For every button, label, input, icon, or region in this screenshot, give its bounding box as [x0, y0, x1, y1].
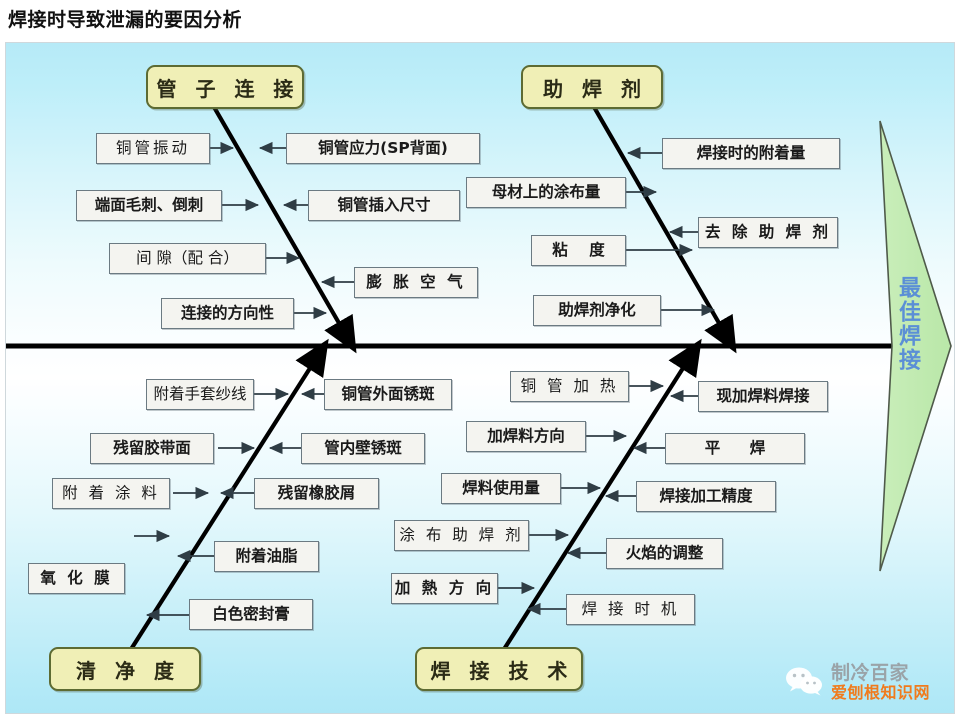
category-cleanliness[interactable]: 清 净 度	[49, 647, 201, 691]
cause-box-flux-removal[interactable]: 去 除 助 焊 剂	[698, 217, 838, 248]
cause-box-coating-on-base-metal[interactable]: 母材上的涂布量	[466, 177, 626, 208]
cause-box-copper-pipe-stress[interactable]: 铜管应力(SP背面)	[286, 133, 480, 164]
cause-box-oxide-film[interactable]: 氧 化 膜	[28, 563, 125, 594]
cause-box-outer-rust-spot[interactable]: 铜管外面锈斑	[324, 379, 452, 410]
watermark-line-1: 制冷百家	[831, 664, 930, 683]
watermark-line-2: 爱刨根知识网	[831, 685, 930, 701]
connectors-pipe-connection	[210, 148, 354, 313]
wechat-icon	[784, 666, 826, 698]
cause-box-inner-rust-spot[interactable]: 管内壁锈斑	[301, 433, 425, 464]
cause-box-flux-purification[interactable]: 助焊剂净化	[533, 295, 661, 326]
cause-box-adhesion-amount-welding[interactable]: 焊接时的附着量	[662, 138, 840, 169]
cause-box-adhered-grease[interactable]: 附着油脂	[214, 541, 319, 572]
category-welding-technique[interactable]: 焊 接 技 术	[415, 647, 583, 691]
cause-box-filler-direction[interactable]: 加焊料方向	[466, 421, 586, 452]
page-title: 焊接时导致泄漏的要因分析	[8, 5, 242, 32]
cause-box-clearance-fit[interactable]: 间 隙（配 合）	[109, 243, 266, 274]
cause-box-adhered-paint[interactable]: 附 着 涂 料	[52, 478, 170, 509]
cause-box-connection-direction[interactable]: 连接的方向性	[161, 298, 294, 329]
cause-box-heating-direction[interactable]: 加 熱 方 向	[391, 573, 498, 604]
cause-box-end-burr[interactable]: 端面毛刺、倒刺	[76, 190, 222, 221]
watermark: 制冷百家 爱刨根知识网	[784, 653, 956, 711]
category-pipe-connection[interactable]: 管 子 连 接	[146, 65, 304, 109]
fishbone-diagram-page: 焊接时导致泄漏的要因分析	[0, 0, 960, 720]
category-flux[interactable]: 助 焊 剂	[521, 65, 663, 109]
cause-box-filler-usage[interactable]: 焊料使用量	[441, 473, 561, 504]
cause-box-added-filler-welding[interactable]: 现加焊料焊接	[698, 381, 828, 412]
cause-box-residual-rubber[interactable]: 残留橡胶屑	[254, 478, 379, 509]
cause-box-white-sealant[interactable]: 白色密封膏	[189, 599, 313, 630]
cause-box-glove-yarn[interactable]: 附着手套纱线	[146, 379, 254, 410]
cause-box-flat-welding[interactable]: 平 焊	[665, 433, 805, 464]
cause-box-flame-adjustment[interactable]: 火焰的调整	[606, 538, 723, 569]
cause-box-expanding-air[interactable]: 膨 胀 空 气	[354, 267, 478, 298]
cause-box-copper-pipe-vibration[interactable]: 铜管振动	[96, 133, 210, 164]
diagram-canvas: 管 子 连 接 助 焊 剂 清 净 度 焊 接 技 术 铜管振动 铜管应力(SP…	[5, 42, 955, 714]
cause-box-insertion-dimension[interactable]: 铜管插入尺寸	[308, 190, 460, 221]
result-label: 最佳焊接	[892, 276, 920, 372]
cause-box-welding-precision[interactable]: 焊接加工精度	[636, 481, 776, 512]
cause-box-residual-tape[interactable]: 残留胶带面	[90, 433, 214, 464]
cause-box-welding-timing[interactable]: 焊 接 时 机	[566, 594, 695, 625]
cause-box-copper-pipe-heating[interactable]: 铜 管 加 热	[510, 371, 629, 402]
cause-box-viscosity[interactable]: 粘 度	[531, 235, 626, 266]
cause-box-apply-flux[interactable]: 涂 布 助 焊 剂	[394, 520, 529, 551]
